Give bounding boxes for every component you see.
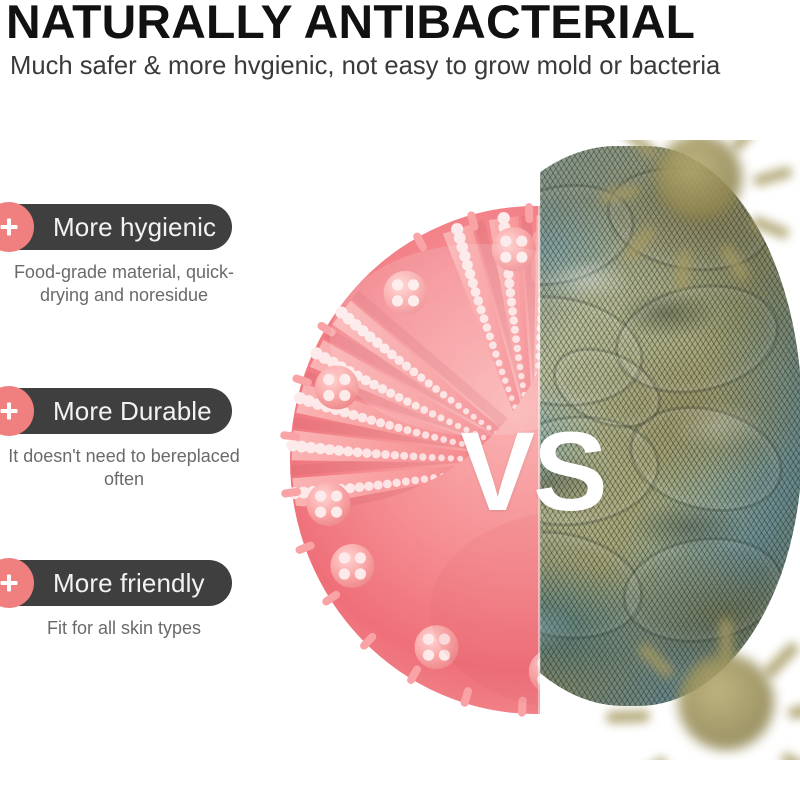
silicone-brush-image (250, 140, 540, 760)
feature-pill[interactable]: More hygienic (0, 204, 232, 250)
feature-more-hygienic[interactable]: More hygienic Food-grade material, quick… (0, 204, 248, 307)
feature-more-friendly[interactable]: More friendly Fit for all skin types (0, 560, 248, 640)
page-subtitle: Much safer & more hvgienic, not easy to … (10, 50, 782, 80)
feature-label: More Durable (53, 396, 212, 427)
header: NATURALLY ANTIBACTERIAL Much safer & mor… (0, 0, 800, 92)
comparison-composite: VS (250, 140, 800, 760)
loofah-sponge-image (540, 146, 800, 706)
comparison-left-half (250, 140, 540, 760)
plus-icon (0, 558, 34, 608)
feature-more-durable[interactable]: More Durable It doesn't need to bereplac… (0, 388, 248, 491)
infographic-page: NATURALLY ANTIBACTERIAL Much safer & mor… (0, 0, 800, 800)
page-title: NATURALLY ANTIBACTERIAL (6, 0, 800, 47)
feature-pill[interactable]: More Durable (0, 388, 232, 434)
feature-pill[interactable]: More friendly (0, 560, 232, 606)
plus-icon (0, 202, 34, 252)
comparison-right-half (540, 140, 800, 760)
feature-description: It doesn't need to bereplaced often (0, 445, 248, 491)
feature-description: Food-grade material, quick-drying and no… (0, 261, 248, 307)
plus-icon (0, 386, 34, 436)
feature-label: More friendly (53, 568, 205, 599)
feature-label: More hygienic (53, 212, 216, 243)
feature-description: Fit for all skin types (0, 617, 248, 640)
